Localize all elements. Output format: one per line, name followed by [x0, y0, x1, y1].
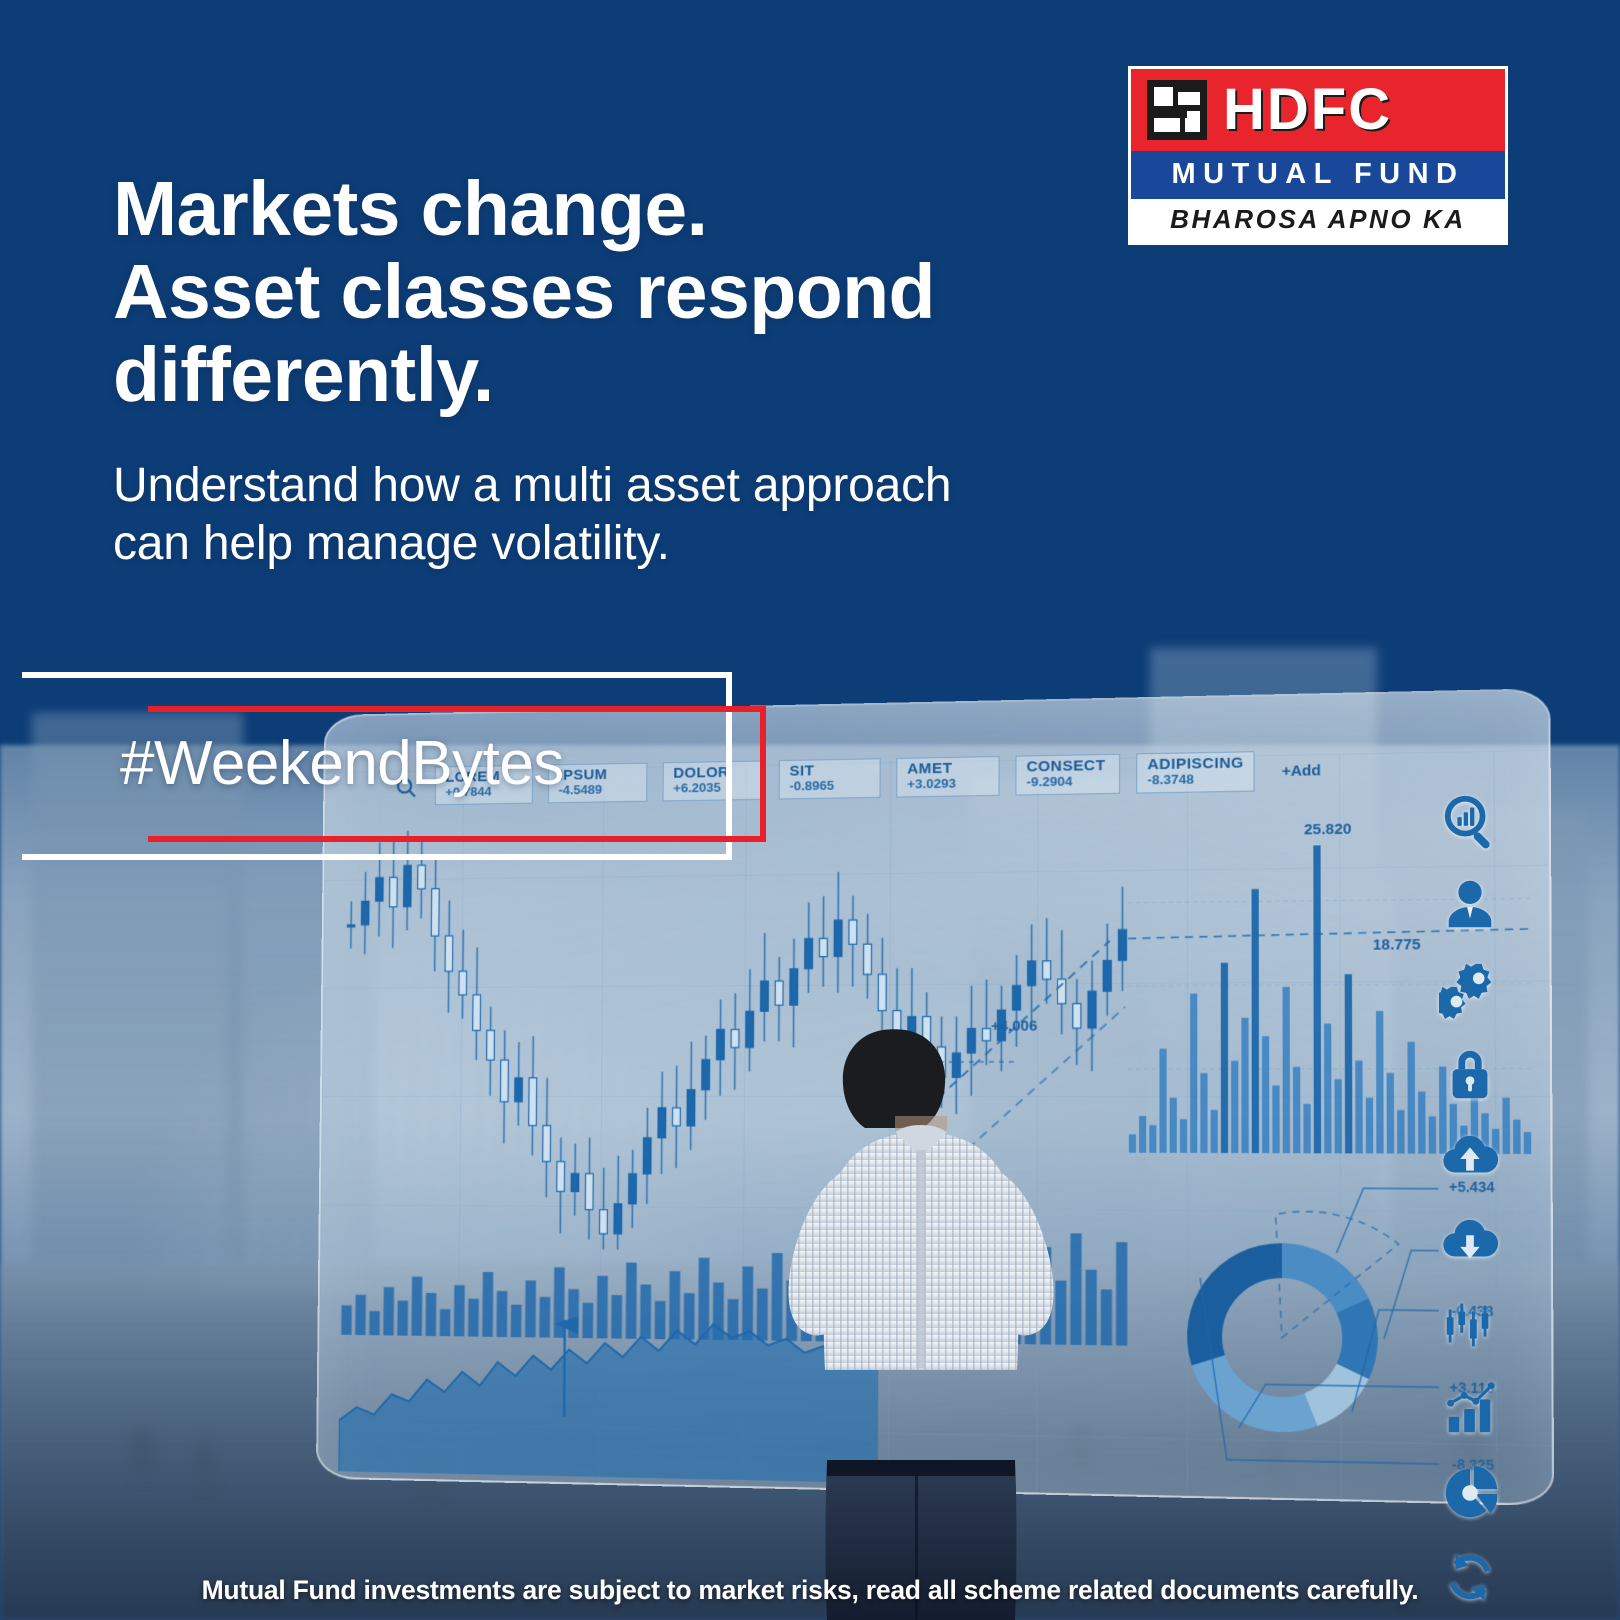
- logo-red-band: HDFC: [1128, 66, 1508, 151]
- gears-settings-icon[interactable]: [1439, 958, 1501, 1020]
- headline-line-3: differently.: [113, 334, 1113, 417]
- headline-copy-block: Markets change. Asset classes respond di…: [113, 168, 1113, 573]
- headline-line-1: Markets change.: [113, 168, 1113, 251]
- metric-tab-value: -8.3748: [1147, 771, 1243, 787]
- metric-tab[interactable]: ADIPISCING -8.3748: [1136, 751, 1255, 793]
- metric-tab[interactable]: AMET +3.0293: [896, 756, 999, 798]
- bar-second-label: 18.775: [1373, 936, 1421, 954]
- logo-blue-band: MUTUAL FUND: [1128, 151, 1508, 199]
- creative-canvas: LOREM +0.7844 IPSUM -4.5489 DOLOR +6.203…: [0, 0, 1620, 1620]
- metric-tab[interactable]: SIT -0.8965: [779, 758, 881, 799]
- person-viewing-dashboard: [735, 1020, 1105, 1620]
- metric-tab-label: SIT: [789, 762, 869, 779]
- candlestick-icon[interactable]: [1439, 1294, 1501, 1356]
- search-chart-icon[interactable]: [1439, 790, 1501, 852]
- crowd-blur: [130, 1426, 156, 1480]
- logo-wordmark: HDFC: [1223, 82, 1392, 138]
- subheadline-line-2: can help manage volatility.: [113, 515, 1113, 573]
- lock-icon[interactable]: [1439, 1042, 1501, 1104]
- hashtag-badge: #WeekendBytes: [0, 660, 790, 875]
- bar-peak-label: 25.820: [1304, 820, 1352, 838]
- metric-tab-label: AMET: [907, 760, 988, 777]
- cloud-download-icon[interactable]: [1439, 1210, 1501, 1272]
- page-title: Markets change. Asset classes respond di…: [113, 168, 1113, 417]
- logo-subtitle: MUTUAL FUND: [1172, 158, 1465, 190]
- metric-tab-value: +3.0293: [907, 776, 988, 791]
- metric-tab-value: -9.2904: [1026, 774, 1108, 789]
- risk-disclaimer: Mutual Fund investments are subject to m…: [0, 1575, 1620, 1606]
- hdfc-cube-icon: [1145, 78, 1209, 142]
- logo-tagline: BHAROSA APNO KA: [1170, 204, 1466, 234]
- pie-chart-icon[interactable]: [1439, 1462, 1501, 1524]
- bar-chart-trend-icon[interactable]: [1439, 1378, 1501, 1440]
- hdfc-mutual-fund-logo: HDFC MUTUAL FUND BHAROSA APNO KA: [1128, 66, 1508, 245]
- subheadline: Understand how a multi asset approach ca…: [113, 457, 1113, 572]
- logo-tagline-band: BHAROSA APNO KA: [1128, 199, 1508, 245]
- user-profile-icon[interactable]: [1439, 874, 1501, 936]
- headline-line-2: Asset classes respond: [113, 251, 1113, 334]
- cloud-upload-icon[interactable]: [1439, 1126, 1501, 1188]
- add-metric-button[interactable]: +Add: [1282, 762, 1321, 780]
- metric-tab-label: ADIPISCING: [1147, 755, 1243, 773]
- metric-tab-value: -0.8965: [789, 778, 869, 793]
- metric-tab[interactable]: CONSECT -9.2904: [1015, 754, 1120, 796]
- dashboard-icon-rail: [1418, 790, 1522, 1608]
- hashtag-label: #WeekendBytes: [120, 728, 564, 799]
- metric-tab-label: CONSECT: [1026, 758, 1108, 775]
- subheadline-line-1: Understand how a multi asset approach: [113, 457, 1113, 515]
